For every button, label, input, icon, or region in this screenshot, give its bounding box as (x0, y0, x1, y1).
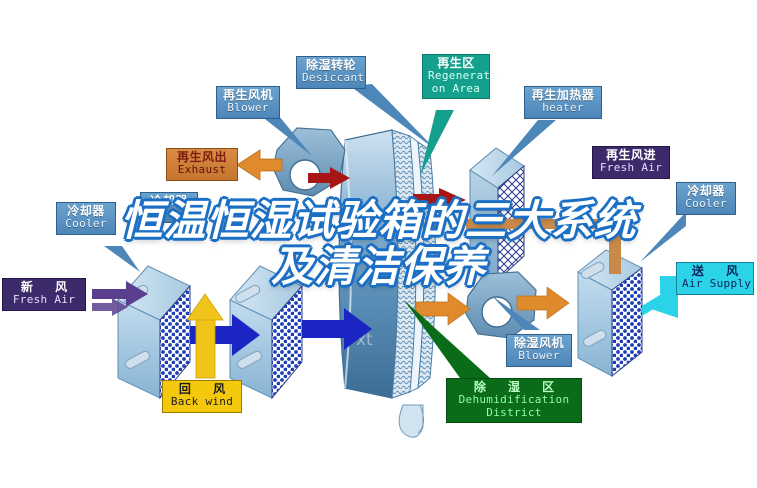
label-desiccant-wheel-cn: 除湿转轮 (302, 59, 360, 72)
label-back-wind-en: Back wind (168, 396, 236, 408)
label-exhaust-en: Exhaust (172, 164, 232, 176)
label-cooler-left-secondary-cn: 冷却器 (146, 195, 192, 208)
label-exhaust[interactable]: 再生风出 Exhaust (166, 148, 238, 181)
label-dehumidification-district[interactable]: 除 湿 区 Dehumidification District (446, 378, 582, 423)
label-regeneration-heater-en: heater (530, 102, 596, 114)
label-regeneration-area-cn: 再生区 (428, 57, 484, 70)
label-dehumidify-blower-cn: 除湿风机 (512, 337, 566, 350)
label-air-supply-cn: 送 风 (682, 265, 748, 278)
label-dehumidify-blower-en: Blower (512, 350, 566, 362)
label-air-supply-en: Air Supply (682, 278, 748, 290)
label-back-wind[interactable]: 回 风 Back wind (162, 380, 242, 413)
label-cooler-left-en: Cooler (62, 218, 110, 230)
label-regeneration-heater[interactable]: 再生加热器 heater (524, 86, 602, 119)
label-regeneration-blower-en: Blower (222, 102, 274, 114)
label-fresh-air-cn: 新 风 (8, 281, 80, 294)
label-regeneration-fresh-air[interactable]: 再生风进 Fresh Air (592, 146, 670, 179)
label-cooler-left-cn: 冷却器 (62, 205, 110, 218)
label-air-supply[interactable]: 送 风 Air Supply (676, 262, 754, 295)
label-regeneration-fresh-air-en: Fresh Air (598, 162, 664, 174)
label-regeneration-area-en2: on Area (428, 83, 484, 95)
dehumidifier-schematic-illustration: xt (0, 0, 757, 488)
label-regeneration-area[interactable]: 再生区 Regenerati on Area (422, 54, 490, 99)
label-desiccant-wheel-en: Desiccant (302, 72, 360, 84)
label-regeneration-blower-cn: 再生风机 (222, 89, 274, 102)
label-cooler-right-en: Cooler (682, 198, 730, 210)
desiccant-rotor-wheel: xt (339, 130, 436, 437)
regeneration-heater-unit (470, 148, 524, 280)
label-regeneration-fresh-air-cn: 再生风进 (598, 149, 664, 162)
label-fresh-air[interactable]: 新 风 Fresh Air (2, 278, 86, 311)
exhaust-arrow (237, 150, 282, 180)
diagram-canvas: xt (0, 0, 757, 488)
label-cooler-left[interactable]: 冷却器 Cooler (56, 202, 116, 235)
label-cooler-left-secondary[interactable]: 冷却器 (140, 192, 198, 223)
label-back-wind-cn: 回 风 (168, 383, 236, 396)
label-exhaust-cn: 再生风出 (172, 151, 232, 164)
label-cooler-right-cn: 冷却器 (682, 185, 730, 198)
label-fresh-air-en: Fresh Air (8, 294, 80, 306)
label-regeneration-area-en1: Regenerati (428, 70, 484, 82)
label-dehumidification-district-cn: 除 湿 区 (452, 381, 576, 394)
label-regeneration-heater-cn: 再生加热器 (530, 89, 596, 102)
label-regeneration-blower[interactable]: 再生风机 Blower (216, 86, 280, 119)
label-dehumidify-blower[interactable]: 除湿风机 Blower (506, 334, 572, 367)
label-dehumidification-district-en1: Dehumidification (452, 394, 576, 406)
label-desiccant-wheel[interactable]: 除湿转轮 Desiccant (296, 56, 366, 89)
label-cooler-right[interactable]: 冷却器 Cooler (676, 182, 736, 215)
label-dehumidification-district-en2: District (452, 407, 576, 419)
